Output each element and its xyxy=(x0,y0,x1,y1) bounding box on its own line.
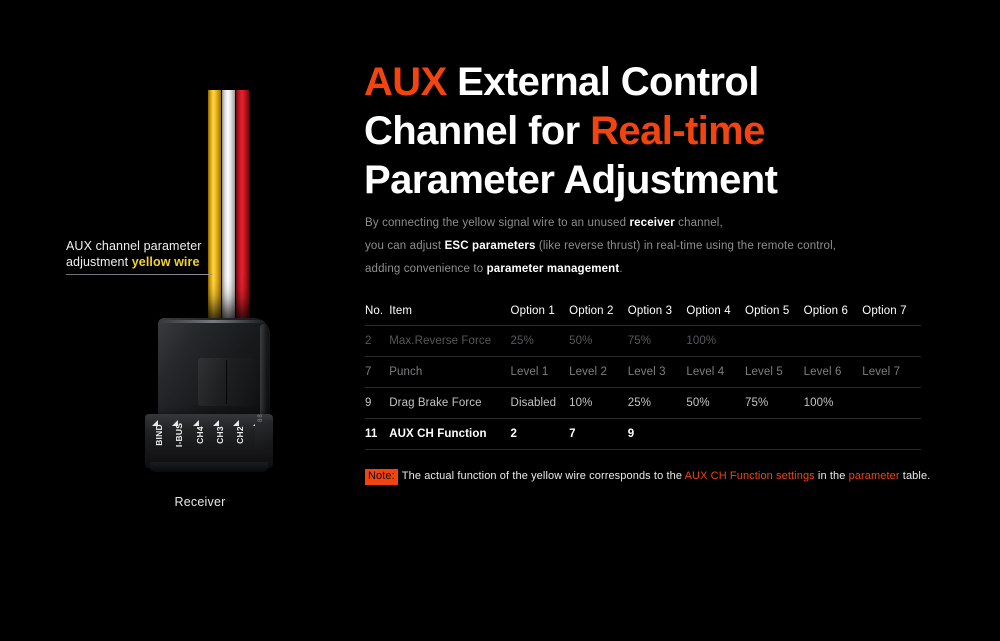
cell-no: 2 xyxy=(365,325,389,356)
cell-option-7 xyxy=(862,325,921,356)
cell-option-2: Level 2 xyxy=(569,356,628,387)
headline-accent-aux: AUX xyxy=(364,60,447,104)
table-row: 11 AUX CH Function 2 7 9 xyxy=(365,418,921,449)
port-ch2: CH2 xyxy=(230,418,250,466)
note-badge: Note: xyxy=(365,469,398,485)
callout-leader-line xyxy=(66,274,212,275)
column-header-item: Item xyxy=(389,297,510,325)
table-header: No. Item Option 1 Option 2 Option 3 Opti… xyxy=(365,297,921,325)
cell-option-7: Level 7 xyxy=(862,356,921,387)
cell-option-2: 7 xyxy=(569,418,628,449)
page-title: AUX External ControlChannel for Real-tim… xyxy=(364,58,964,205)
headline-line-1-rest: External Control xyxy=(447,60,759,104)
note-line: Note:The actual function of the yellow w… xyxy=(365,468,945,485)
callout-line-1: AUX channel parameter xyxy=(66,238,276,254)
cell-option-1: 2 xyxy=(511,418,570,449)
cell-option-4: 50% xyxy=(686,387,745,418)
body-p1-a: By connecting the yellow signal wire to … xyxy=(365,217,630,229)
cell-item: Drag Brake Force xyxy=(389,387,510,418)
cell-option-4: 100% xyxy=(686,325,745,356)
cell-option-6 xyxy=(804,325,863,356)
cell-option-2: 50% xyxy=(569,325,628,356)
body-p1-c: channel, xyxy=(675,217,723,229)
cell-option-2: 10% xyxy=(569,387,628,418)
receiver-side-marking: 88 xyxy=(258,413,264,422)
table-row: 2 Max.Reverse Force 25% 50% 75% 100% xyxy=(365,325,921,356)
cell-option-1: 25% xyxy=(511,325,570,356)
cell-option-7 xyxy=(862,418,921,449)
table-row: 7 Punch Level 1 Level 2 Level 3 Level 4 … xyxy=(365,356,921,387)
cell-option-6 xyxy=(804,418,863,449)
body-p3-c: . xyxy=(619,263,622,275)
body-copy: By connecting the yellow signal wire to … xyxy=(365,212,925,281)
note-highlight-parameter: parameter xyxy=(849,470,900,482)
port-label: I-BUS xyxy=(174,416,184,454)
cell-option-1: Disabled xyxy=(511,387,570,418)
port-label: CH3 xyxy=(215,416,225,454)
cell-option-4 xyxy=(686,418,745,449)
port-ch4: CH4 xyxy=(190,418,210,466)
body-p2-c: (like reverse thrust) in real-time using… xyxy=(536,240,837,252)
cell-no: 7 xyxy=(365,356,389,387)
body-p3-bold: parameter management xyxy=(487,263,620,275)
cell-item: Max.Reverse Force xyxy=(389,325,510,356)
column-header-option-6: Option 6 xyxy=(804,297,863,325)
connector-seam xyxy=(226,360,227,404)
cell-item: Punch xyxy=(389,356,510,387)
note-text-c: in the xyxy=(815,470,849,482)
note-text-a: The actual function of the yellow wire c… xyxy=(402,470,685,482)
cell-item: AUX CH Function xyxy=(389,418,510,449)
table-row: 9 Drag Brake Force Disabled 10% 25% 50% … xyxy=(365,387,921,418)
cell-option-6: 100% xyxy=(804,387,863,418)
column-header-option-2: Option 2 xyxy=(569,297,628,325)
cell-option-3: Level 3 xyxy=(628,356,687,387)
port-label: BIND xyxy=(154,416,164,454)
body-paragraph-3: adding convenience to parameter manageme… xyxy=(365,258,925,281)
callout-line-2-prefix: adjustment xyxy=(66,255,132,269)
parameter-table: No. Item Option 1 Option 2 Option 3 Opti… xyxy=(365,297,921,450)
receiver-ports: BIND I-BUS CH4 CH3 CH2 CH1 xyxy=(149,418,271,466)
cell-option-7 xyxy=(862,387,921,418)
receiver-connector xyxy=(198,358,256,406)
table-header-row: No. Item Option 1 Option 2 Option 3 Opti… xyxy=(365,297,921,325)
cell-no: 11 xyxy=(365,418,389,449)
column-header-option-4: Option 4 xyxy=(686,297,745,325)
port-bind: BIND xyxy=(149,418,169,466)
port-ibus: I-BUS xyxy=(169,418,189,466)
cell-option-5 xyxy=(745,325,804,356)
column-header-option-3: Option 3 xyxy=(628,297,687,325)
cell-option-5 xyxy=(745,418,804,449)
note-highlight-aux-ch-function: AUX CH Function settings xyxy=(685,470,815,482)
product-figure: BIND I-BUS CH4 CH3 CH2 CH1 88 Receiver A… xyxy=(0,0,350,641)
cell-option-3: 25% xyxy=(628,387,687,418)
port-label: CH2 xyxy=(235,416,245,454)
cell-option-1: Level 1 xyxy=(511,356,570,387)
port-ch3: CH3 xyxy=(210,418,230,466)
cell-option-4: Level 4 xyxy=(686,356,745,387)
body-p3-a: adding convenience to xyxy=(365,263,487,275)
receiver-base xyxy=(150,462,268,472)
callout-yellow-wire-highlight: yellow wire xyxy=(132,255,200,269)
cell-option-3: 75% xyxy=(628,325,687,356)
body-p2-bold: ESC parameters xyxy=(445,240,536,252)
table-body: 2 Max.Reverse Force 25% 50% 75% 100% 7 P… xyxy=(365,325,921,449)
cell-option-5: Level 5 xyxy=(745,356,804,387)
body-p2-a: you can adjust xyxy=(365,240,445,252)
headline-line-3: Parameter Adjustment xyxy=(364,158,777,202)
body-paragraph-1: By connecting the yellow signal wire to … xyxy=(365,212,925,235)
body-paragraph-2: you can adjust ESC parameters (like reve… xyxy=(365,235,925,258)
column-header-no: No. xyxy=(365,297,389,325)
cell-option-3: 9 xyxy=(628,418,687,449)
column-header-option-5: Option 5 xyxy=(745,297,804,325)
column-header-option-1: Option 1 xyxy=(511,297,570,325)
callout-line-2: adjustment yellow wire xyxy=(66,254,276,270)
note-text-e: table. xyxy=(900,470,931,482)
callout-annotation: AUX channel parameter adjustment yellow … xyxy=(66,238,276,270)
content-column: AUX External ControlChannel for Real-tim… xyxy=(364,0,964,641)
receiver-highlight xyxy=(160,320,266,323)
column-header-option-7: Option 7 xyxy=(862,297,921,325)
receiver-caption: Receiver xyxy=(0,495,400,509)
cell-no: 9 xyxy=(365,387,389,418)
receiver-side-cap xyxy=(255,420,273,450)
cell-option-5: 75% xyxy=(745,387,804,418)
cell-option-6: Level 6 xyxy=(804,356,863,387)
port-label: CH4 xyxy=(195,416,205,454)
headline-accent-realtime: Real-time xyxy=(590,109,765,153)
body-p1-bold: receiver xyxy=(630,217,675,229)
headline-line-2-prefix: Channel for xyxy=(364,109,590,153)
